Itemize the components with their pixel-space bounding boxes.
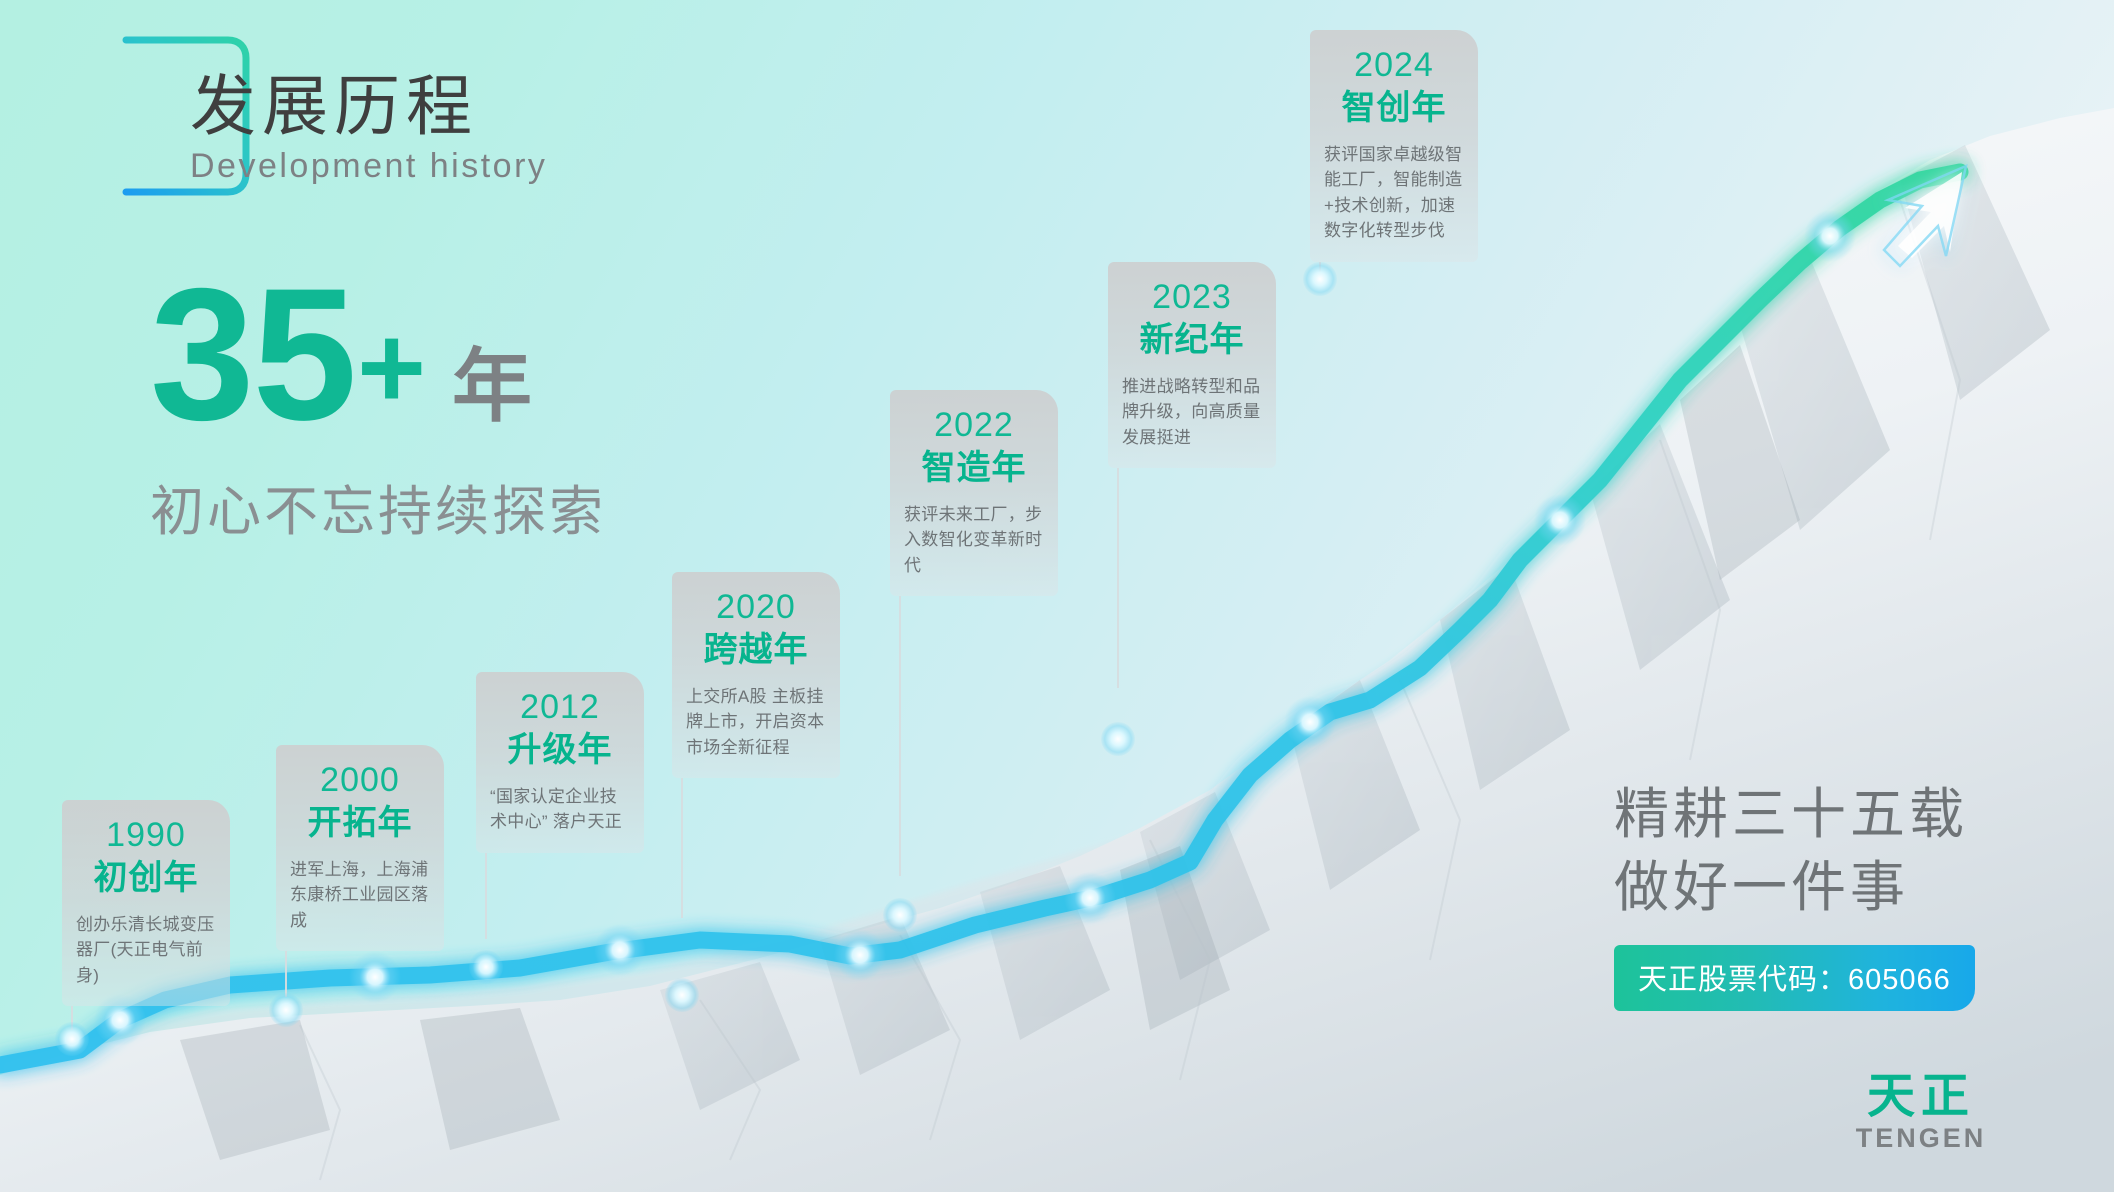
milestone-stem: [899, 596, 901, 876]
milestone-stem: [1117, 468, 1119, 688]
milestone-desc: 推进战略转型和品牌升级，向高质量发展挺进: [1118, 374, 1266, 451]
milestone-name: 升级年: [486, 729, 634, 772]
milestone-year: 2000: [286, 761, 434, 800]
stock-code-badge: 天正股票代码：605066: [1614, 945, 1975, 1011]
milestone-stem: [485, 853, 487, 939]
milestone-desc: 进军上海，上海浦东康桥工业园区落成: [286, 857, 434, 934]
milestone-name: 智创年: [1320, 87, 1468, 130]
milestone-2023[interactable]: 2023 新纪年 推进战略转型和品牌升级，向高质量发展挺进: [1108, 262, 1276, 468]
milestone-stem: [681, 778, 683, 918]
development-history-poster: 发展历程 Development history 35 + 年 初心不忘持续探索…: [0, 0, 2114, 1192]
years-plus-sign: +: [357, 309, 426, 427]
milestone-2022[interactable]: 2022 智造年 获评未来工厂，步入数智化变革新时代: [890, 390, 1058, 596]
milestone-2012[interactable]: 2012 升级年 “国家认定企业技术中心” 落户天正: [476, 672, 644, 853]
milestone-year: 2022: [900, 406, 1048, 445]
milestone-stem: [285, 951, 287, 997]
years-tagline: 初心不忘持续探索: [150, 467, 790, 546]
milestone-name: 开拓年: [286, 802, 434, 845]
milestone-2000[interactable]: 2000 开拓年 进军上海，上海浦东康桥工业园区落成: [276, 745, 444, 951]
years-stat-line: 35 + 年: [150, 268, 790, 441]
milestone-card[interactable]: 2000 开拓年 进军上海，上海浦东康桥工业园区落成: [276, 745, 444, 951]
milestone-year: 2020: [682, 588, 830, 627]
milestone-node-dot: [469, 950, 503, 984]
milestone-node-dot: [665, 978, 699, 1012]
milestone-2024[interactable]: 2024 智创年 获评国家卓越级智能工厂，智能制造+技术创新，加速数字化转型步伐: [1310, 30, 1478, 262]
up-arrow-glow-icon: [1884, 166, 1966, 266]
milestone-desc: 创办乐清长城变压器厂(天正电气前身): [72, 912, 220, 989]
milestone-desc: “国家认定企业技术中心” 落户天正: [486, 784, 634, 835]
milestone-2020[interactable]: 2020 跨越年 上交所A股 主板挂牌上市，开启资本市场全新征程: [672, 572, 840, 778]
brand-logo: 天正 TENGEN: [1846, 1072, 1996, 1154]
milestone-node-dot: [55, 1022, 89, 1056]
years-unit: 年: [452, 347, 532, 427]
milestone-card[interactable]: 2020 跨越年 上交所A股 主板挂牌上市，开启资本市场全新征程: [672, 572, 840, 778]
milestone-node-dot: [269, 993, 303, 1027]
slogan-line-1: 精耕三十五载: [1614, 778, 1994, 851]
milestone-name: 新纪年: [1118, 319, 1266, 362]
years-number: 35: [150, 268, 355, 441]
milestone-card[interactable]: 2012 升级年 “国家认定企业技术中心” 落户天正: [476, 672, 644, 853]
milestone-node-dot: [1101, 722, 1135, 756]
milestone-desc: 上交所A股 主板挂牌上市，开启资本市场全新征程: [682, 684, 830, 761]
milestone-node-dot: [883, 898, 917, 932]
milestone-desc: 获评未来工厂，步入数智化变革新时代: [900, 502, 1048, 579]
slogan-block: 精耕三十五载 做好一件事 天正股票代码：605066: [1614, 778, 1994, 1011]
milestone-card[interactable]: 2022 智造年 获评未来工厂，步入数智化变革新时代: [890, 390, 1058, 596]
milestone-year: 2024: [1320, 46, 1468, 85]
milestone-card[interactable]: 2024 智创年 获评国家卓越级智能工厂，智能制造+技术创新，加速数字化转型步伐: [1310, 30, 1478, 262]
milestone-card[interactable]: 2023 新纪年 推进战略转型和品牌升级，向高质量发展挺进: [1108, 262, 1276, 468]
milestone-year: 2012: [486, 688, 634, 727]
milestone-name: 智造年: [900, 447, 1048, 490]
milestone-1990[interactable]: 1990 初创年 创办乐清长城变压器厂(天正电气前身): [62, 800, 230, 1006]
page-header: 发展历程 Development history: [118, 30, 738, 210]
years-stat-block: 35 + 年 初心不忘持续探索: [150, 268, 790, 546]
milestone-year: 2023: [1118, 278, 1266, 317]
milestone-name: 初创年: [72, 857, 220, 900]
brand-name-en: TENGEN: [1846, 1124, 1996, 1154]
milestone-node-dot: [1303, 262, 1337, 296]
page-title: 发展历程: [190, 72, 547, 141]
milestone-card[interactable]: 1990 初创年 创办乐清长城变压器厂(天正电气前身): [62, 800, 230, 1006]
milestone-desc: 获评国家卓越级智能工厂，智能制造+技术创新，加速数字化转型步伐: [1320, 142, 1468, 244]
milestone-year: 1990: [72, 816, 220, 855]
slogan-line-2: 做好一件事: [1614, 851, 1994, 924]
milestone-name: 跨越年: [682, 629, 830, 672]
page-subtitle: Development history: [190, 147, 547, 186]
brand-name-cn: 天正: [1846, 1072, 1996, 1122]
